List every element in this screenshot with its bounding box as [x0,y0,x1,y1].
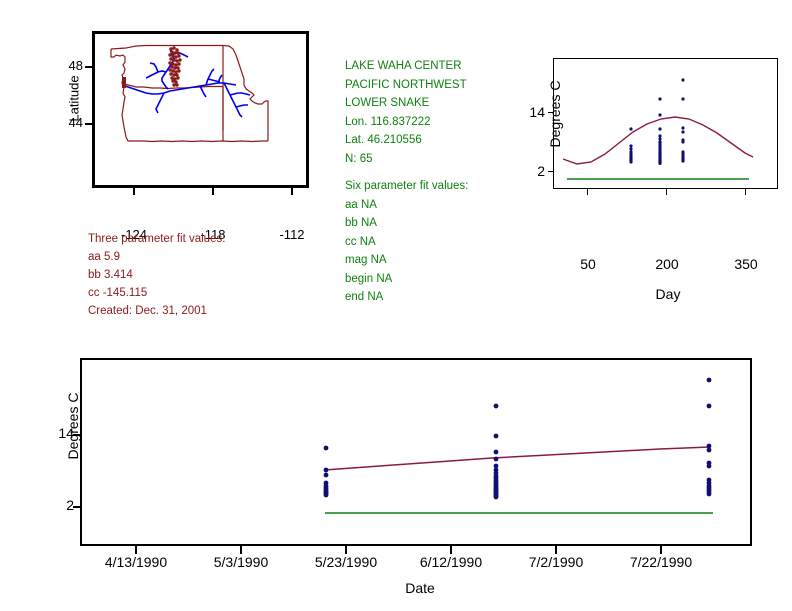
map-xtick-124 [133,188,135,195]
three-param-aa: aa 5.9 [88,248,225,266]
six-param-cc: cc NA [345,233,468,252]
day-xtick-label-350: 350 [716,256,776,272]
text-spacer [345,168,468,177]
date-xtick-1 [135,546,137,554]
three-param-header: Three parameter fit values: [88,230,225,248]
day-x-axis-label: Day [593,286,743,302]
date-xtick-label-4: 6/12/1990 [396,554,506,570]
station-name: LAKE WAHA CENTER [345,57,468,76]
date-plot-panel: 14 2 4/13/1990 5/3/1990 5/23/1990 6/12/1… [80,358,752,546]
date-ytick-2 [73,506,80,508]
day-xtick-200 [666,189,667,195]
six-param-end: end NA [345,288,468,307]
three-param-bb: bb 3.414 [88,266,225,284]
day-fit-curve [563,117,753,164]
date-xtick-label-2: 5/3/1990 [186,554,296,570]
date-xtick-6 [660,546,662,554]
map-panel: 48 44 -124 -118 -112 Latitude [92,31,309,188]
station-sample-count: N: 65 [345,150,468,169]
date-xtick-5 [555,546,557,554]
day-xtick-50 [587,189,588,195]
station-marker-cluster [122,46,182,88]
date-xtick-4 [450,546,452,554]
map-ytick-44 [85,123,92,125]
date-y-axis-label: Degrees C [65,361,81,491]
three-parameter-fit-block: Three parameter fit values: aa 5.9 bb 3.… [88,230,225,320]
date-xtick-2 [240,546,242,554]
date-plot-graphic [80,358,752,546]
day-ytick-label-14: 14 [505,104,545,120]
map-xtick-118 [212,188,214,195]
map-xtick-label-112: -112 [262,227,322,242]
map-ytick-48 [85,66,92,68]
station-basin: LOWER SNAKE [345,94,468,113]
day-xtick-label-50: 50 [558,256,618,272]
station-longitude: Lon. 116.837222 [345,113,468,132]
day-plot-panel: 14 2 50 200 350 Degrees C Day [553,58,778,189]
day-plot-graphic [553,58,778,189]
date-xtick-label-1: 4/13/1990 [81,554,191,570]
six-param-header: Six parameter fit values: [345,177,468,196]
six-param-aa: aa NA [345,196,468,215]
day-xtick-label-200: 200 [637,256,697,272]
day-xtick-350 [745,189,746,195]
river-network [122,49,250,117]
six-param-begin: begin NA [345,270,468,289]
day-ytick-label-2: 2 [505,163,545,179]
six-param-bb: bb NA [345,214,468,233]
station-latitude: Lat. 46.210556 [345,131,468,150]
three-param-cc: cc -145.115 [88,284,225,302]
date-xtick-label-6: 7/22/1990 [606,554,716,570]
date-xtick-3 [345,546,347,554]
date-x-axis-label: Date [350,580,490,596]
day-data-points [629,78,684,165]
map-graphic [92,31,309,188]
date-xtick-label-3: 5/23/1990 [291,554,401,570]
date-ytick-label-2: 2 [34,497,74,513]
date-data-points [324,378,712,500]
map-xtick-112 [291,188,293,195]
station-info-block: LAKE WAHA CENTER PACIFIC NORTHWEST LOWER… [345,57,468,307]
date-fit-line [324,447,710,470]
day-y-axis-label: Degrees C [547,49,563,179]
date-xtick-label-5: 7/2/1990 [501,554,611,570]
map-y-axis-label: Latitude [67,49,82,149]
created-date: Created: Dec. 31, 2001 [88,302,225,320]
six-param-mag: mag NA [345,251,468,270]
station-region: PACIFIC NORTHWEST [345,76,468,95]
